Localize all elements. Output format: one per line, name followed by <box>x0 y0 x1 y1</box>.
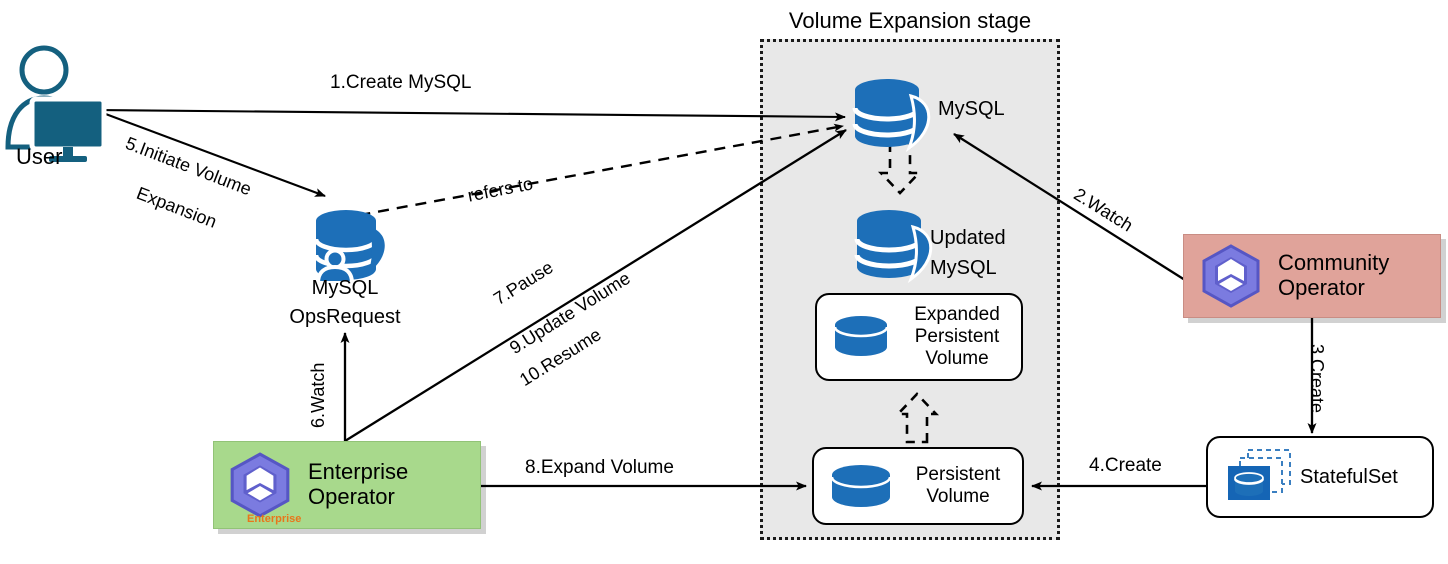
cube-operator-icon <box>1198 243 1264 309</box>
mysql-label: MySQL <box>938 98 1005 122</box>
persistent-volume-label-line2: Volume <box>902 486 1014 508</box>
volume-disk-icon <box>825 307 899 367</box>
persistent-volume-label-line1: Persistent <box>902 464 1014 486</box>
enterprise-tag: Enterprise <box>247 513 301 525</box>
expanded-pv-label-line1: Expanded <box>899 304 1015 326</box>
transition-arrow-pv-to-expanded-pv <box>898 394 936 442</box>
edge-label-3-create: 3.Create <box>1306 344 1327 413</box>
edge-label-1-create-mysql: 1.Create MySQL <box>330 72 472 94</box>
edge-label-8-expand-volume: 8.Expand Volume <box>525 457 674 479</box>
edge-1-create-mysql <box>95 110 845 117</box>
enterprise-operator-label-line2: Operator <box>308 485 408 510</box>
statefulset-icon <box>1220 444 1300 510</box>
expanded-pv-label-line2: Persistent <box>899 326 1015 348</box>
volume-disk-icon <box>822 454 902 518</box>
edge-refers-to <box>322 126 843 222</box>
cube-operator-icon <box>226 451 294 519</box>
ops-request-label-line2: OpsRequest <box>265 306 425 330</box>
enterprise-operator-label-line1: Enterprise <box>308 460 408 485</box>
edge-label-6-watch: 6.Watch <box>308 363 329 428</box>
user-label: User <box>16 144 62 170</box>
ops-request-label-line1: MySQL <box>265 277 425 301</box>
community-operator-label-line2: Operator <box>1278 276 1389 301</box>
updated-mysql-label-line1: Updated <box>930 227 1006 251</box>
stateful-set-label: StatefulSet <box>1300 466 1398 488</box>
community-operator-label-line1: Community <box>1278 251 1389 276</box>
stateful-set-box: StatefulSet <box>1206 436 1434 518</box>
transition-arrow-mysql-to-updated <box>881 143 919 193</box>
edge-label-4-create: 4.Create <box>1089 455 1162 477</box>
expanded-pv-label-line3: Volume <box>899 348 1015 370</box>
updated-mysql-label-line2: MySQL <box>930 257 997 281</box>
community-operator-box[interactable]: Community Operator <box>1183 234 1441 318</box>
expanded-persistent-volume-box: Expanded Persistent Volume <box>815 293 1023 381</box>
persistent-volume-box: Persistent Volume <box>812 447 1024 525</box>
diagram-canvas: Volume Expansion stage <box>0 0 1448 564</box>
